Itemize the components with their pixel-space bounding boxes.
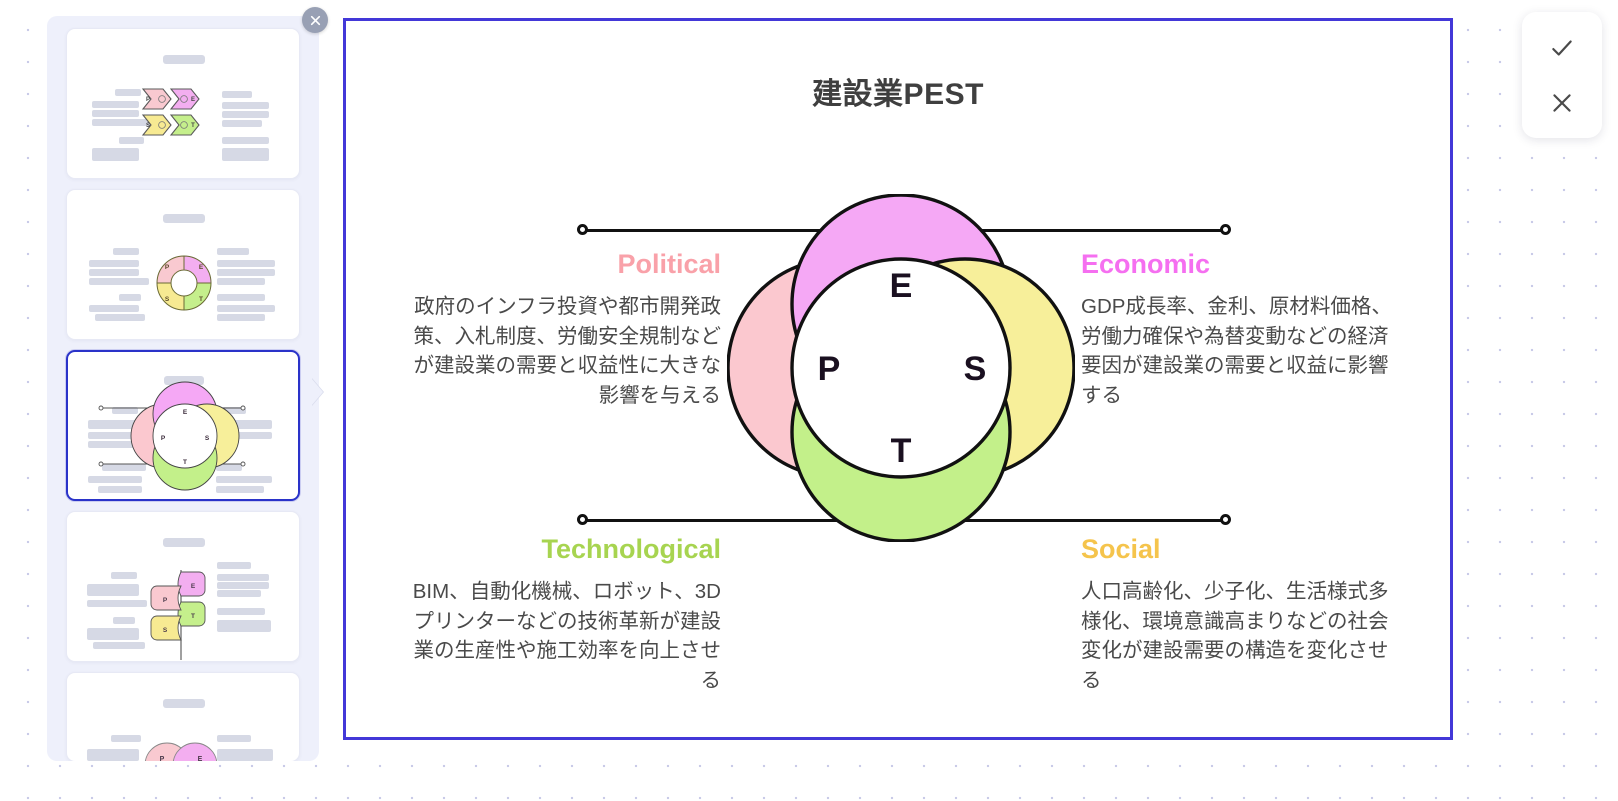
quadrant-heading-technological: Technological bbox=[403, 534, 721, 565]
close-icon bbox=[1549, 90, 1575, 116]
diagram-letter-s: S bbox=[964, 350, 987, 388]
list-item[interactable]: PE ST bbox=[66, 189, 300, 340]
svg-text:E: E bbox=[191, 97, 195, 103]
svg-text:P: P bbox=[165, 264, 170, 271]
quadrant-body-economic: GDP成長率、金利、原材料価格、労働力確保や為替変動などの経済要因が建設業の需要… bbox=[1081, 292, 1399, 411]
quadrant-economic: Economic GDP成長率、金利、原材料価格、労働力確保や為替変動などの経済… bbox=[1081, 249, 1399, 411]
slide-thumbnail-sidebar[interactable]: PE ST bbox=[47, 16, 319, 761]
thumb-diagram-flower: EP ST bbox=[68, 352, 300, 501]
thumb-diagram-arrows: PE ST bbox=[67, 29, 300, 179]
connector-dot-bottom-right bbox=[1220, 514, 1231, 525]
connector-dot-top-left bbox=[577, 224, 588, 235]
list-item[interactable]: ET PS bbox=[66, 511, 300, 662]
list-item[interactable]: EP ST bbox=[66, 350, 300, 501]
connector-dot-top-right bbox=[1220, 224, 1231, 235]
diagram-letter-p: P bbox=[818, 350, 841, 388]
pest-flower-diagram: E P S T bbox=[727, 194, 1075, 542]
slide-canvas[interactable]: 建設業PEST E P S T Political 政府のインフラ投資や都市開発… bbox=[343, 18, 1453, 740]
thumb-diagram-donut: PE ST bbox=[67, 190, 300, 340]
svg-text:S: S bbox=[146, 123, 150, 129]
svg-text:P: P bbox=[160, 756, 165, 761]
quadrant-body-technological: BIM、自動化機械、ロボット、3Dプリンターなどの技術革新が建設業の生産性や施工… bbox=[403, 577, 721, 696]
svg-text:E: E bbox=[191, 583, 196, 590]
svg-text:T: T bbox=[183, 459, 187, 466]
cancel-button[interactable] bbox=[1539, 80, 1585, 126]
quadrant-political: Political 政府のインフラ投資や都市開発政策、入札制度、労働安全規制など… bbox=[403, 249, 721, 411]
list-item[interactable]: PE ST bbox=[66, 28, 300, 179]
quadrant-body-political: 政府のインフラ投資や都市開発政策、入札制度、労働安全規制などが建設業の需要と収益… bbox=[403, 292, 721, 411]
quadrant-heading-political: Political bbox=[403, 249, 721, 280]
svg-text:S: S bbox=[205, 435, 210, 442]
svg-text:E: E bbox=[198, 756, 203, 761]
quadrant-body-social: 人口高齢化、少子化、生活様式多様化、環境意識高まりなどの社会変化が建設需要の構造… bbox=[1081, 577, 1399, 696]
selected-slide-caret bbox=[311, 378, 323, 406]
svg-text:E: E bbox=[199, 264, 204, 271]
action-panel[interactable] bbox=[1522, 12, 1602, 138]
svg-text:S: S bbox=[165, 296, 170, 303]
svg-text:T: T bbox=[191, 123, 195, 129]
quadrant-technological: Technological BIM、自動化機械、ロボット、3Dプリンターなどの技… bbox=[403, 534, 721, 696]
page-title: 建設業PEST bbox=[346, 69, 1450, 113]
close-icon[interactable] bbox=[302, 7, 328, 33]
thumb-diagram-leaves: ET PS bbox=[67, 512, 300, 662]
diagram-letter-e: E bbox=[890, 267, 913, 305]
quadrant-heading-economic: Economic bbox=[1081, 249, 1399, 280]
svg-text:S: S bbox=[163, 627, 168, 634]
connector-dot-bottom-left bbox=[577, 514, 588, 525]
quadrant-social: Social 人口高齢化、少子化、生活様式多様化、環境意識高まりなどの社会変化が… bbox=[1081, 534, 1399, 696]
diagram-letter-t: T bbox=[891, 432, 912, 470]
thumb-diagram-venn: PE bbox=[67, 673, 300, 761]
svg-text:E: E bbox=[183, 409, 188, 416]
check-icon bbox=[1549, 35, 1575, 61]
svg-text:T: T bbox=[199, 296, 203, 303]
list-item[interactable]: PE bbox=[66, 672, 300, 761]
svg-text:P: P bbox=[161, 435, 166, 442]
svg-text:P: P bbox=[146, 97, 150, 103]
svg-text:P: P bbox=[163, 597, 168, 604]
quadrant-heading-social: Social bbox=[1081, 534, 1399, 565]
confirm-button[interactable] bbox=[1539, 25, 1585, 71]
svg-text:T: T bbox=[191, 613, 195, 620]
